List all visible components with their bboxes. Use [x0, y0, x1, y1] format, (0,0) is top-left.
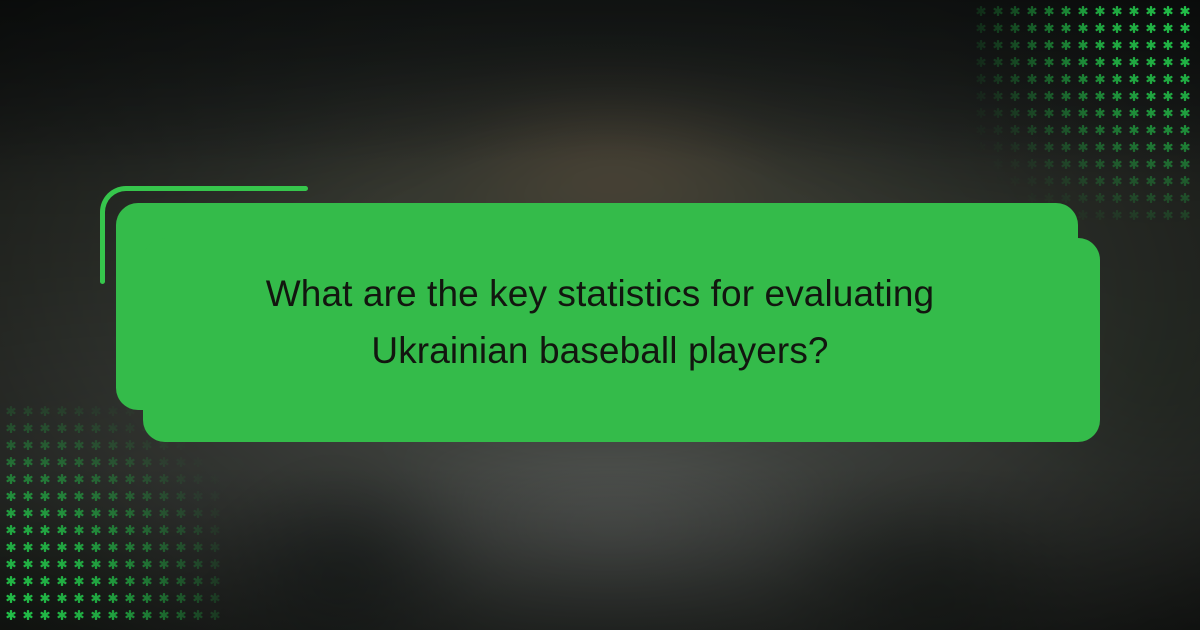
- question-text: What are the key statistics for evaluati…: [220, 266, 980, 378]
- question-card-graphic: What are the key statistics for evaluati…: [0, 0, 1200, 630]
- question-text-block: What are the key statistics for evaluati…: [120, 203, 1080, 442]
